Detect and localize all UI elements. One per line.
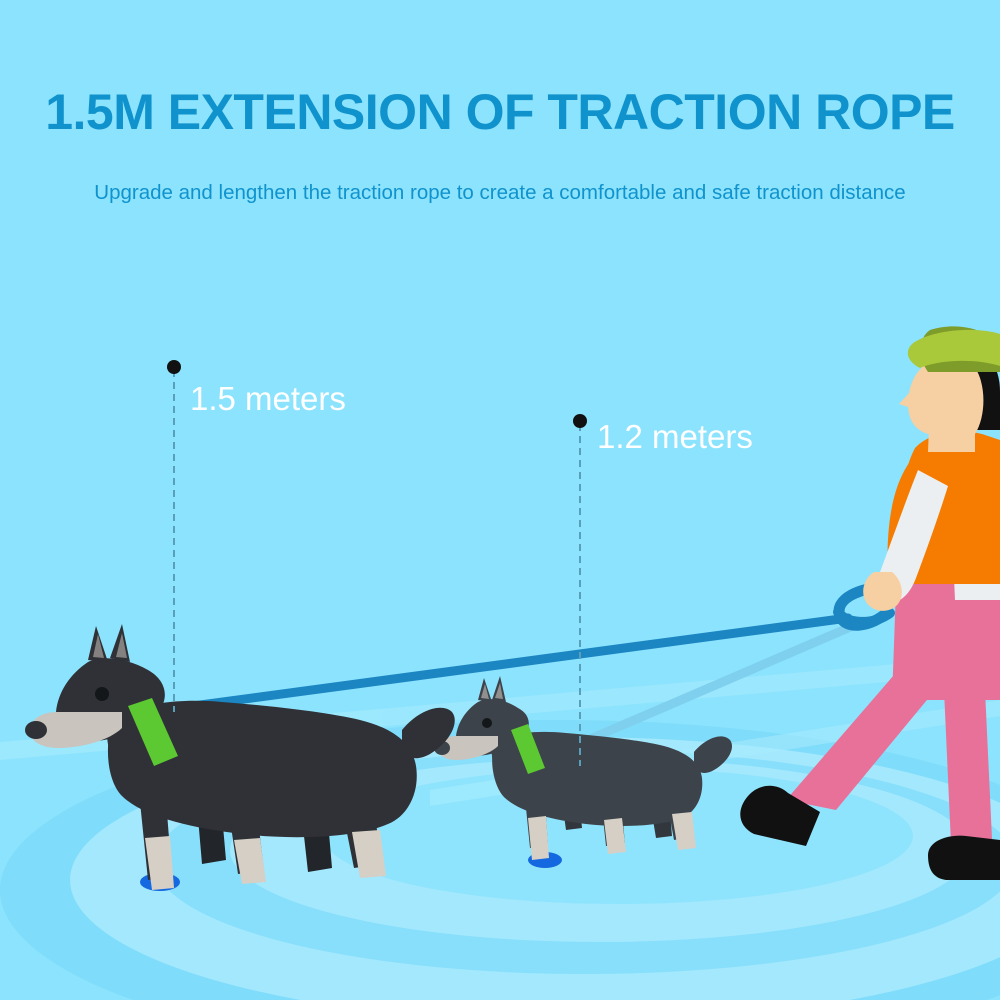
person-back-shoe [928,836,1000,880]
page-title: 1.5M EXTENSION OF TRACTION ROPE [0,84,1000,140]
page-subtitle: Upgrade and lengthen the traction rope t… [0,180,1000,206]
big-dog-nose [25,721,47,739]
measurement-dot-short [573,414,587,428]
big-dog-eye [95,687,109,701]
illustration [0,0,1000,1000]
measurement-dot-long [167,360,181,374]
infographic-canvas: 1.5M EXTENSION OF TRACTION ROPE Upgrade … [0,0,1000,1000]
callout-label-short-leash: 1.2 meters [597,418,753,456]
callout-label-long-leash: 1.5 meters [190,380,346,418]
small-dog-eye [482,718,492,728]
person-hand [863,572,902,611]
